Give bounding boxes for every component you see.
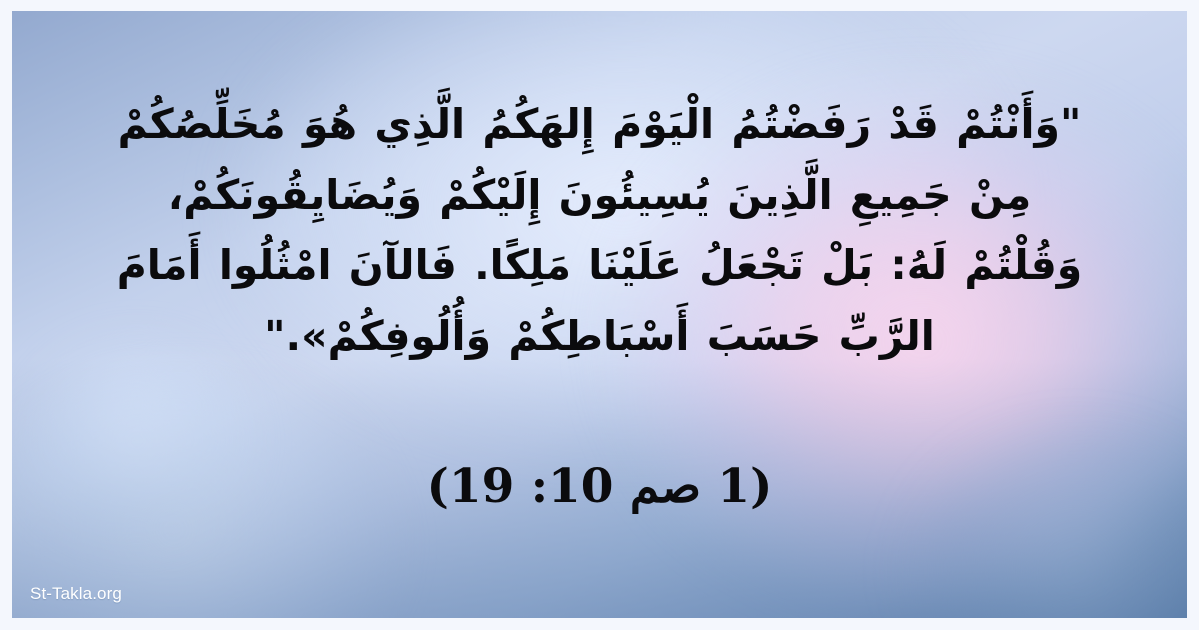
verse-text-block: "وَأَنْتُمْ قَدْ رَفَضْتُمُ الْيَوْمَ إِ…	[12, 89, 1187, 371]
verse-image-background: "وَأَنْتُمْ قَدْ رَفَضْتُمُ الْيَوْمَ إِ…	[12, 11, 1187, 618]
verse-image-canvas: "وَأَنْتُمْ قَدْ رَفَضْتُمُ الْيَوْمَ إِ…	[0, 0, 1199, 630]
site-watermark: St-Takla.org	[30, 584, 122, 604]
verse-body-text: "وَأَنْتُمْ قَدْ رَفَضْتُمُ الْيَوْمَ إِ…	[102, 89, 1097, 371]
verse-reference: (1 صم 10: 19)	[12, 459, 1187, 515]
